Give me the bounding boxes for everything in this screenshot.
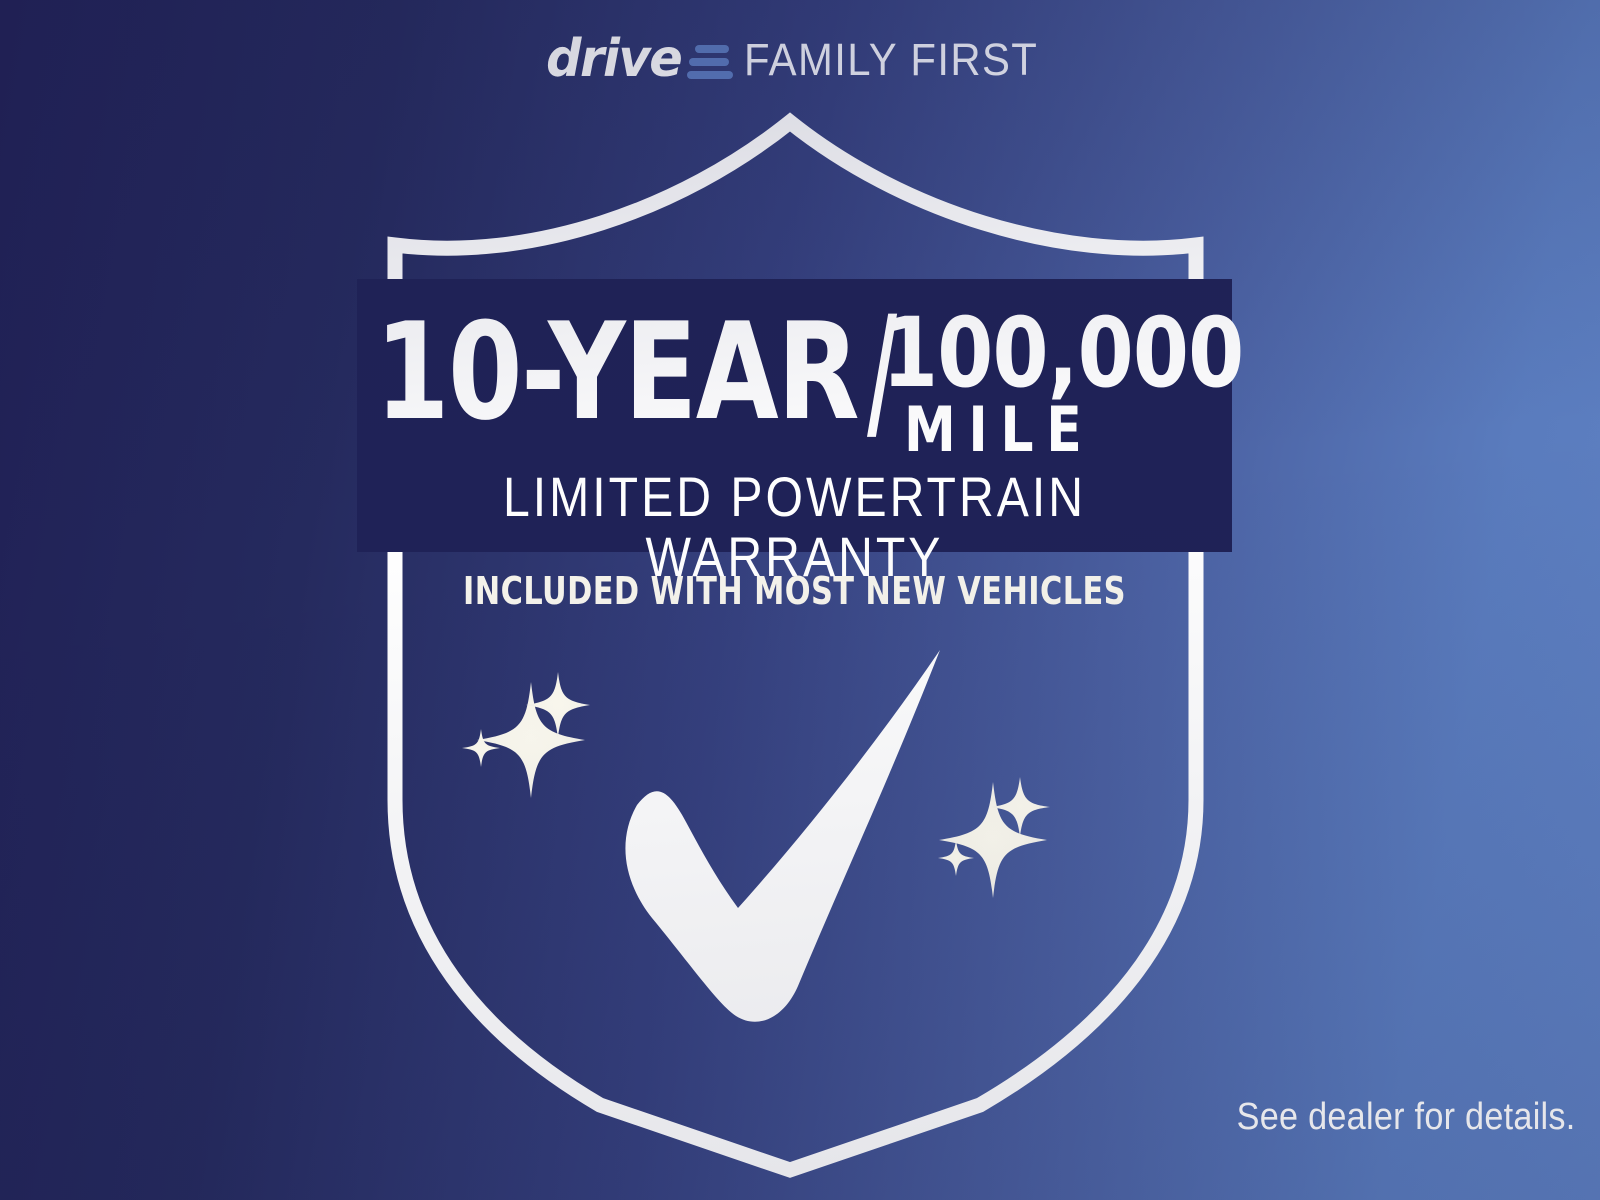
headline-row: 10-YEAR / 100,000 MILE bbox=[375, 305, 1220, 455]
sparkle-icon bbox=[462, 729, 500, 767]
headline-band: 10-YEAR / 100,000 MILE LIMITED POWERTRAI… bbox=[357, 279, 1232, 552]
bar-middle bbox=[689, 58, 729, 66]
checkmark-icon bbox=[625, 650, 940, 1022]
bar-top bbox=[695, 45, 729, 53]
sparkle-cluster-left bbox=[462, 672, 590, 798]
miles-value: 100,000 bbox=[882, 309, 1243, 397]
brand-drive-wordmark: drive bbox=[546, 33, 681, 85]
sparkle-cluster-right bbox=[938, 777, 1050, 898]
miles-unit-label: MILE bbox=[904, 399, 1094, 461]
included-note: INCLUDED WITH MOST NEW VEHICLES bbox=[445, 570, 1145, 612]
three-bars-icon bbox=[687, 45, 733, 79]
warranty-promo-graphic: drive FAMILY FIRST 10-YEAR / 100,000 MIL… bbox=[0, 0, 1600, 1200]
disclaimer-text: See dealer for details. bbox=[1237, 1096, 1576, 1138]
brand-lockup: drive FAMILY FIRST bbox=[0, 28, 1600, 90]
years-value: 10-YEAR bbox=[375, 305, 858, 439]
miles-block: 100,000 MILE bbox=[882, 309, 1312, 461]
bar-bottom bbox=[687, 71, 733, 79]
brand-family-first-text: FAMILY FIRST bbox=[744, 37, 1038, 82]
sparkle-icon bbox=[939, 782, 1047, 898]
